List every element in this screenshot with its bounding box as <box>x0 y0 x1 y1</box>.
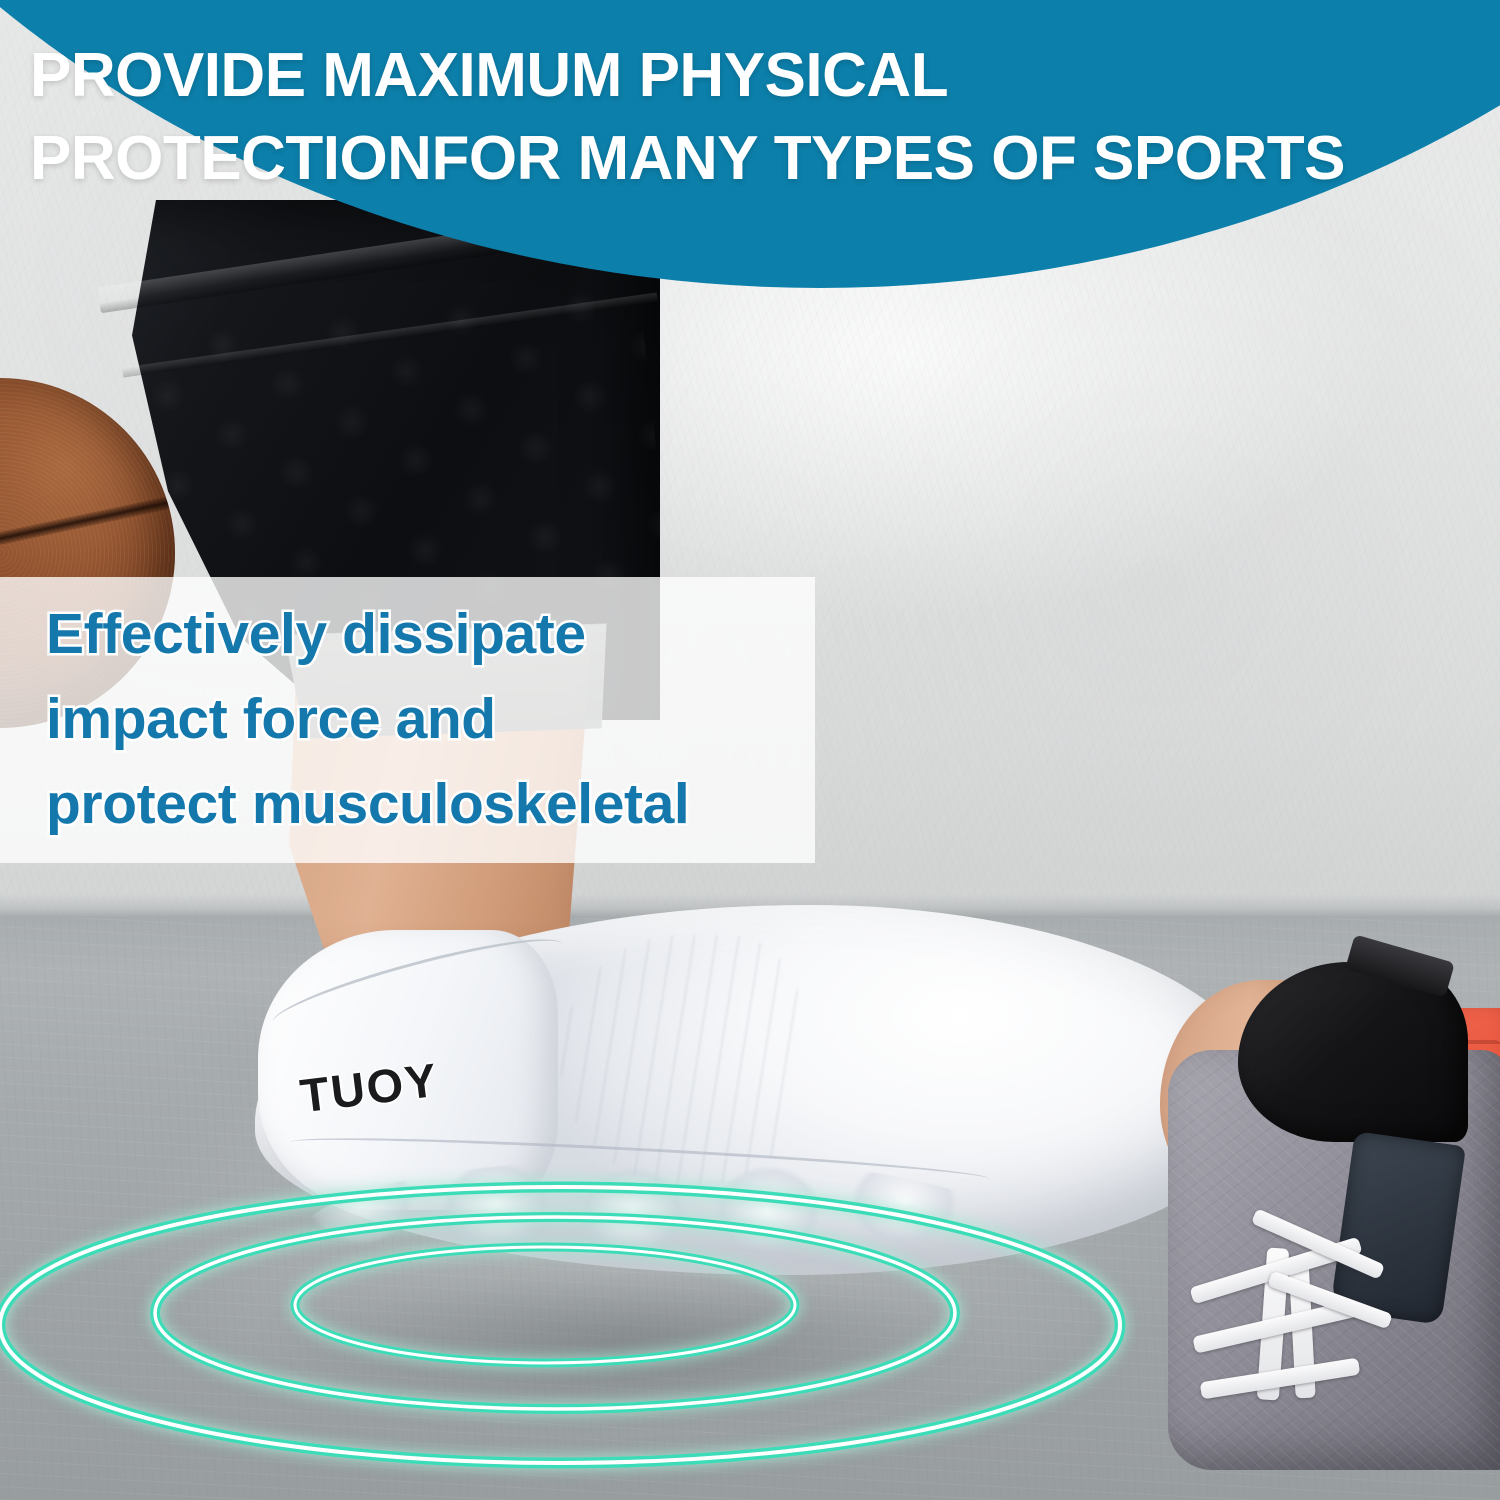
title-line-1: PROVIDE MAXIMUM PHYSICAL <box>30 34 1490 117</box>
title-line-2: PROTECTIONFOR MANY TYPES OF SPORTS <box>30 117 1490 200</box>
callout-line-3: protect musculoskeletal <box>46 762 806 847</box>
impact-ripple-rings <box>0 1150 1500 1500</box>
product-marketing-banner: TUOY <box>0 0 1500 1500</box>
page-title: PROVIDE MAXIMUM PHYSICAL PROTECTIONFOR M… <box>30 34 1490 200</box>
callout-line-1: Effectively dissipate <box>46 592 806 677</box>
callout-text: Effectively dissipate impact force and p… <box>46 592 806 847</box>
callout-line-2: impact force and <box>46 677 806 762</box>
